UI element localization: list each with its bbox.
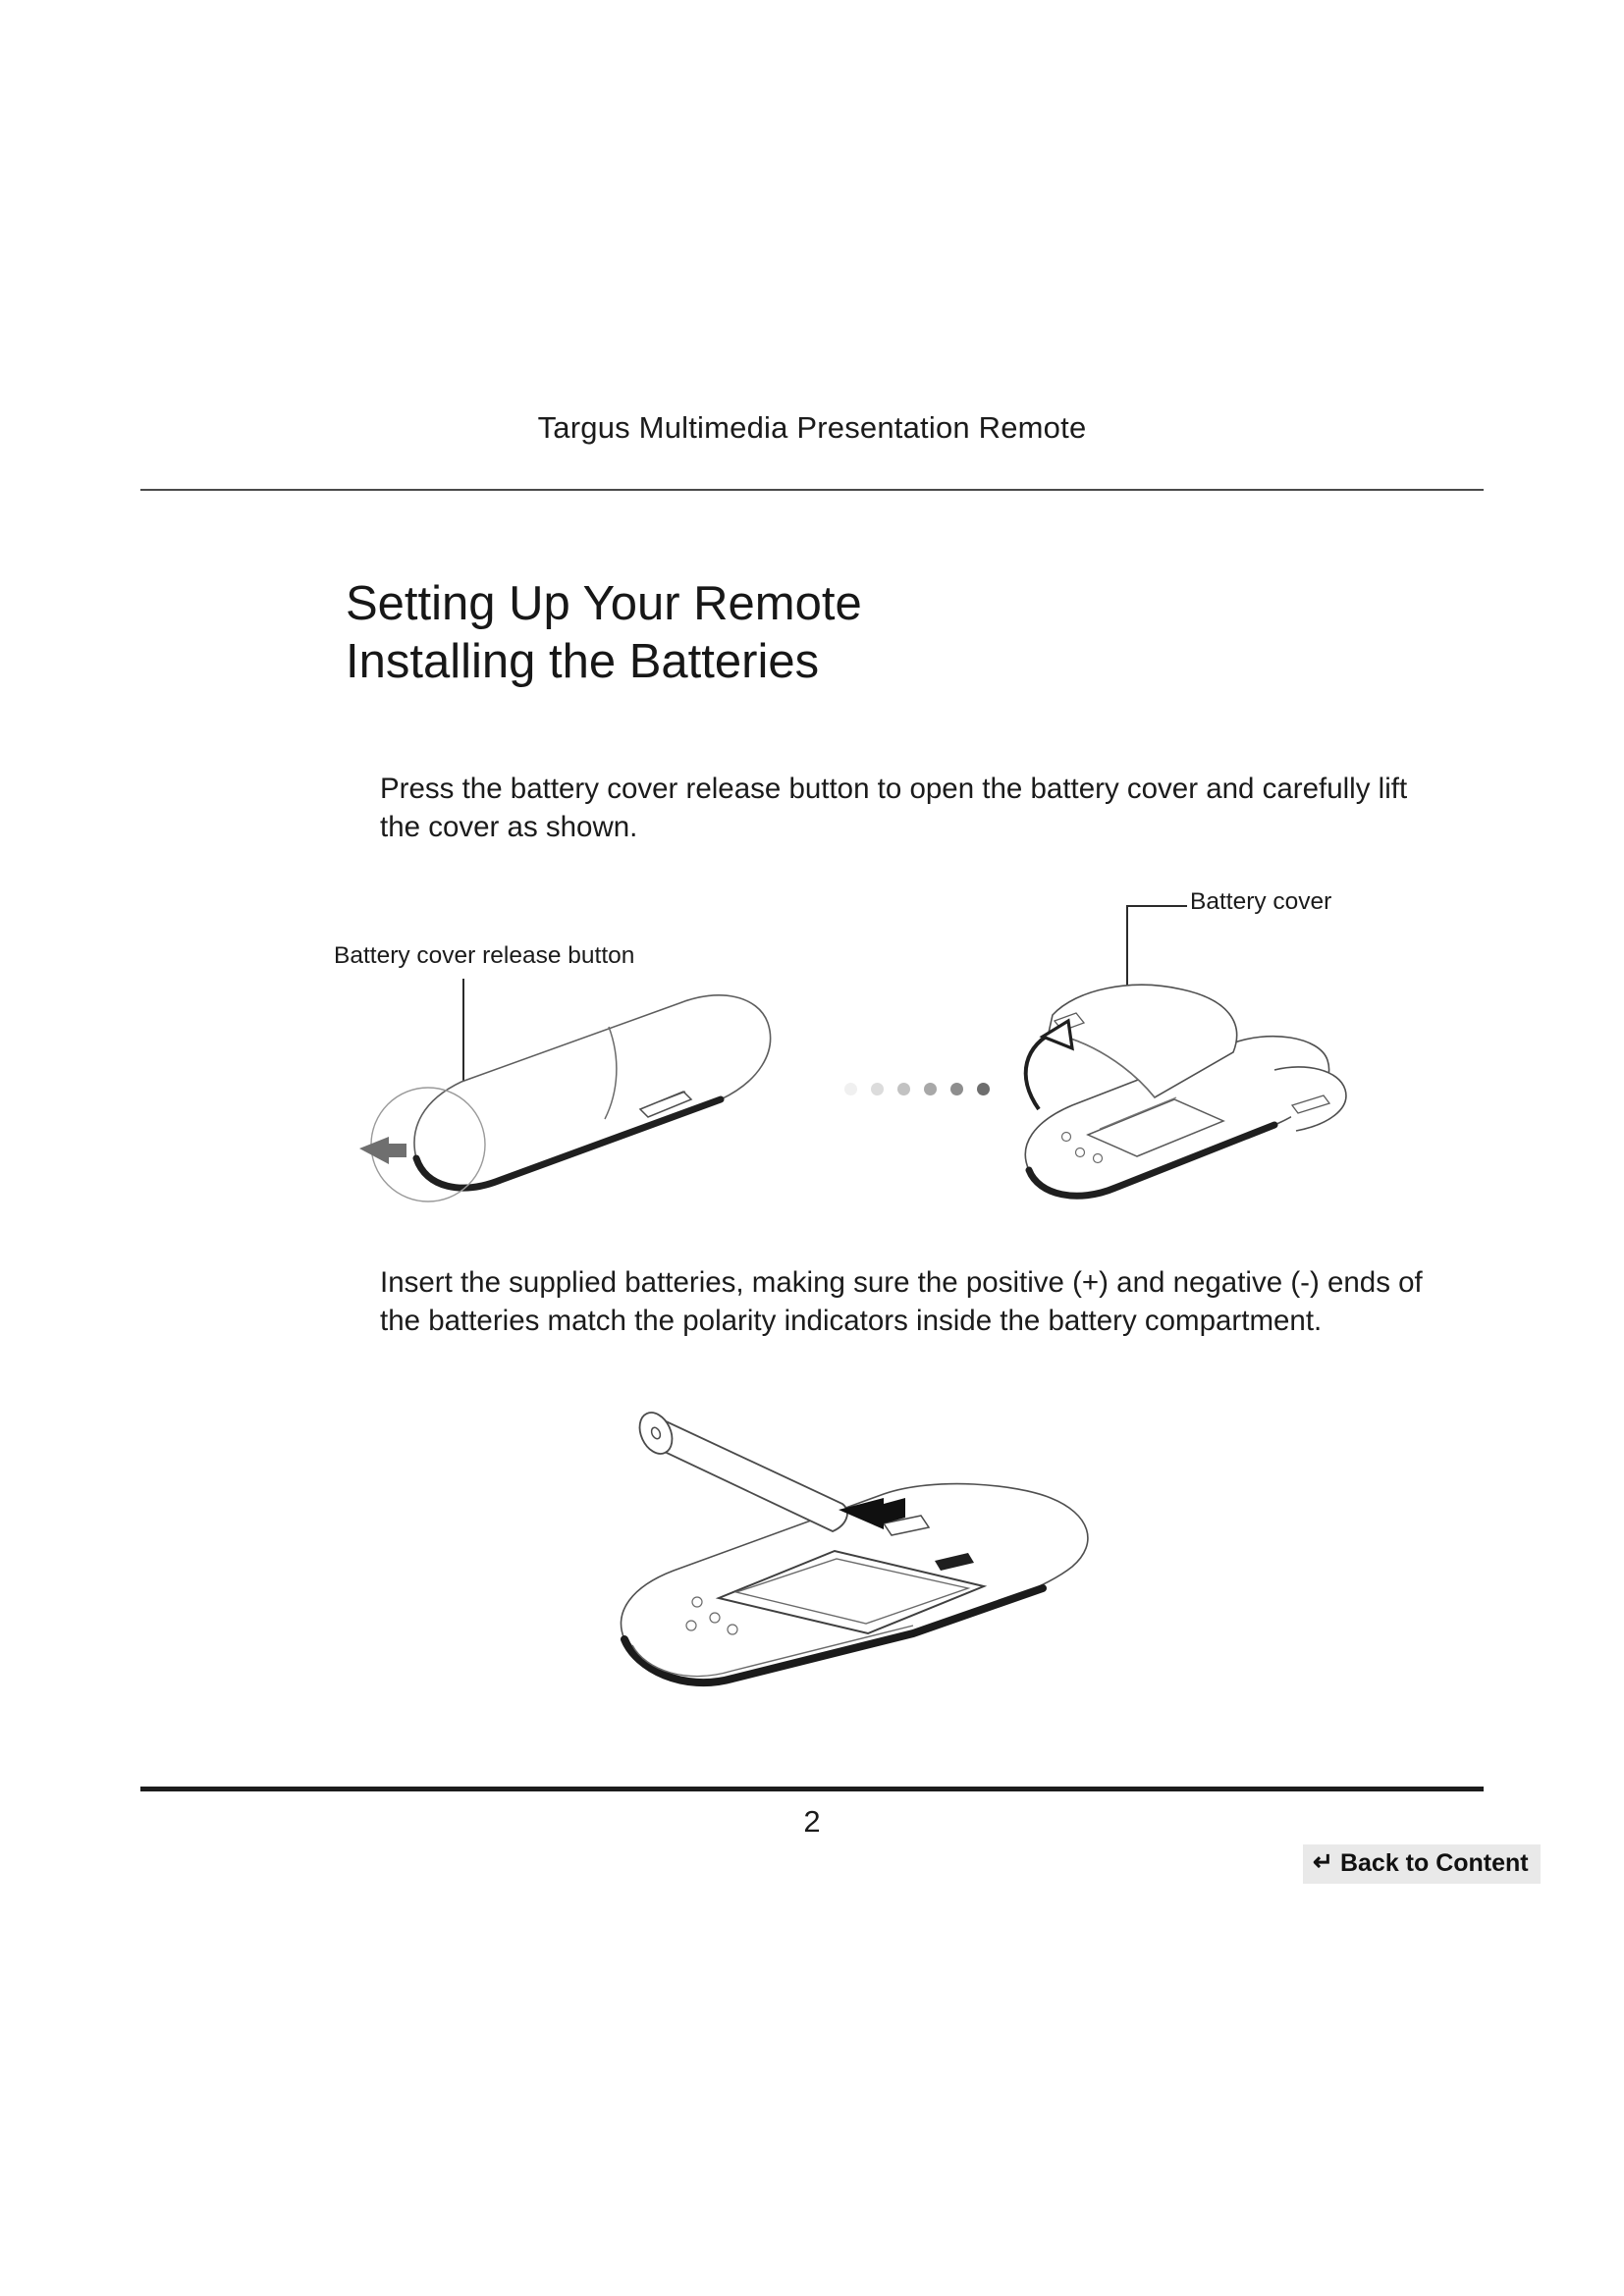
illustration-remote-open: [982, 942, 1394, 1227]
return-arrow-icon: ↵: [1313, 1850, 1333, 1875]
illustration-battery-insert: [589, 1394, 1139, 1718]
illustration-remote-closed: [314, 962, 825, 1217]
instruction-paragraph-1: Press the battery cover release button t…: [380, 771, 1455, 847]
transition-dot-1: [844, 1083, 857, 1095]
footer-divider: [140, 1787, 1484, 1791]
transition-dot-2: [871, 1083, 884, 1095]
callout-label-battery-cover: Battery cover: [1190, 888, 1331, 916]
instruction-paragraph-2: Insert the supplied batteries, making su…: [380, 1264, 1455, 1341]
back-to-content-button[interactable]: ↵ Back to Content: [1303, 1844, 1541, 1884]
page-title-line-1: Setting Up Your Remote: [346, 577, 1475, 631]
leader-line-battery-cover-horizontal: [1126, 905, 1187, 907]
figure-open-battery-cover: Battery cover release button Battery cov…: [295, 888, 1394, 1227]
transition-dots: [844, 1083, 990, 1095]
transition-dot-5: [950, 1083, 963, 1095]
header-divider: [140, 489, 1484, 491]
back-to-content-label: Back to Content: [1340, 1849, 1529, 1878]
page-title: Setting Up Your Remote Installing the Ba…: [346, 577, 1475, 689]
running-header: Targus Multimedia Presentation Remote: [0, 410, 1624, 446]
battery-cell: [633, 1408, 847, 1531]
document-page: Targus Multimedia Presentation Remote Se…: [0, 0, 1624, 2296]
figure-insert-battery: [589, 1394, 1139, 1718]
transition-dot-4: [924, 1083, 937, 1095]
page-number: 2: [0, 1804, 1624, 1840]
transition-dot-3: [897, 1083, 910, 1095]
page-title-line-2: Installing the Batteries: [346, 635, 1475, 689]
